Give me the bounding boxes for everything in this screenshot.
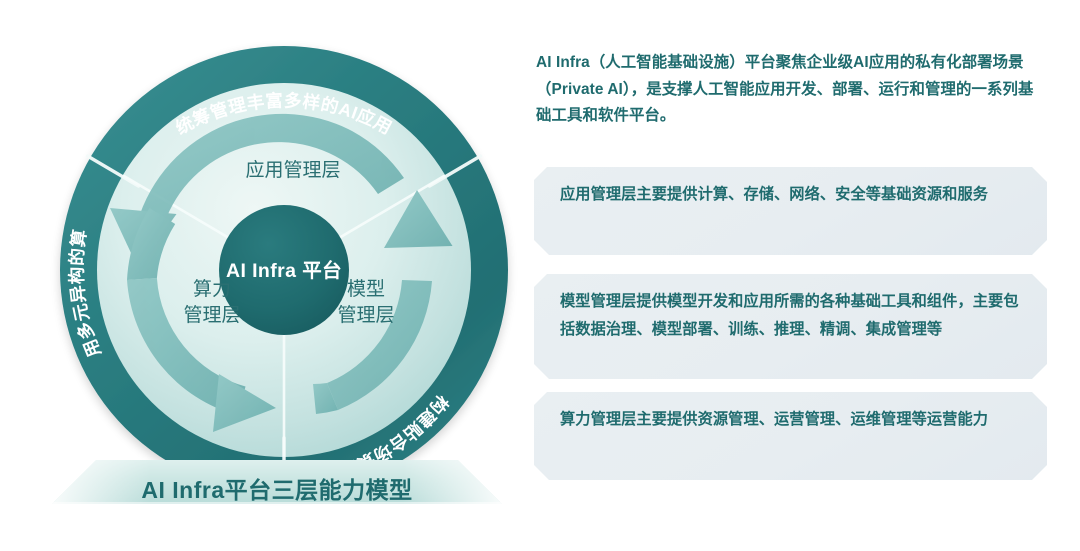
info-card-compute: 算力管理层主要提供资源管理、运营管理、运维管理等运营能力 <box>534 392 1047 480</box>
svg-text:算力: 算力 <box>193 278 231 300</box>
platform-title: AI Infra平台三层能力模型 <box>52 471 502 505</box>
platform-base: AI Infra平台三层能力模型 <box>52 458 502 520</box>
info-card-model: 模型管理层提供模型开发和应用所需的各种基础工具和组件，主要包括数据治理、模型部署… <box>534 274 1047 379</box>
info-card-application: 应用管理层主要提供计算、存储、网络、安全等基础资源和服务 <box>534 167 1047 255</box>
core-label: AI Infra 平台 <box>226 259 342 282</box>
capability-wheel-diagram: AI Infra 平台 应用管理层 算力 管理层 模型 管理层 统筹管理丰富多样… <box>0 0 520 551</box>
svg-text:模型: 模型 <box>347 278 385 300</box>
svg-text:管理层: 管理层 <box>337 304 394 326</box>
infographic-page: AI Infra 平台 应用管理层 算力 管理层 模型 管理层 统筹管理丰富多样… <box>0 0 1080 551</box>
layer-label-application: 应用管理层 <box>245 159 340 181</box>
wheel-svg: AI Infra 平台 应用管理层 算力 管理层 模型 管理层 统筹管理丰富多样… <box>28 18 540 528</box>
description-panel: AI Infra（人工智能基础设施）平台聚焦企业级AI应用的私有化部署场景（Pr… <box>534 0 1080 551</box>
svg-text:管理层: 管理层 <box>183 304 240 326</box>
intro-paragraph: AI Infra（人工智能基础设施）平台聚焦企业级AI应用的私有化部署场景（Pr… <box>536 50 1046 130</box>
